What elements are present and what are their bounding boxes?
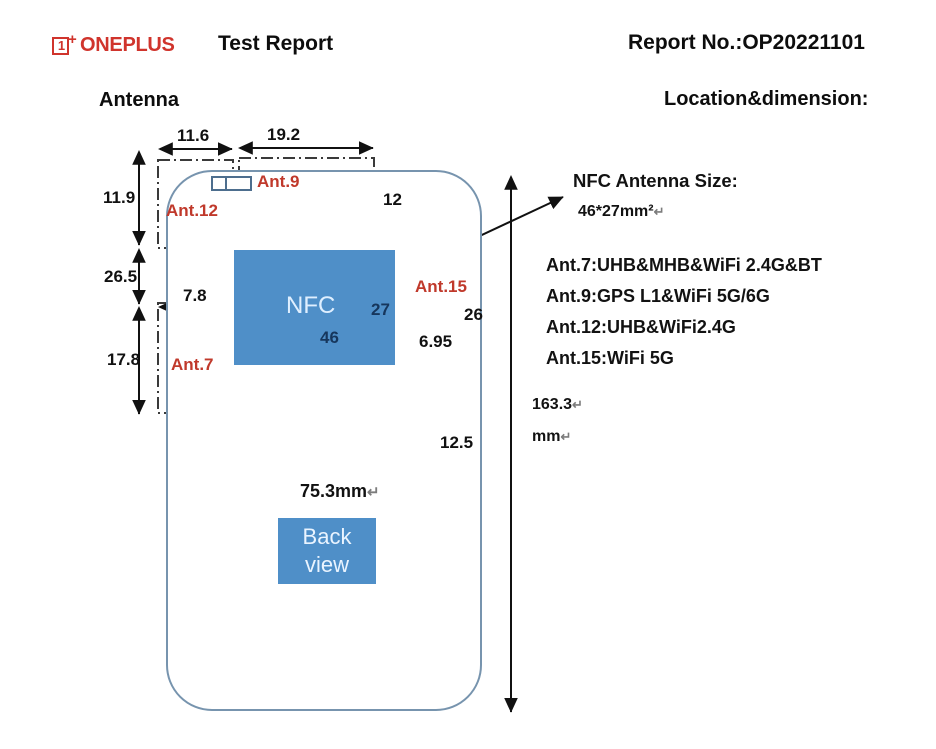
back-view-block: Back view — [278, 518, 376, 584]
antenna-label-ant12: Ant.12 — [166, 201, 218, 221]
back-view-label-line2: view — [278, 552, 376, 578]
dim-label-12-5: 12.5 — [440, 433, 473, 453]
dim-label-nfc-height: 27 — [371, 300, 390, 320]
dim-label-11-6: 11.6 — [177, 126, 209, 146]
top-connector-shape — [211, 176, 252, 191]
dim-label-11-9: 11.9 — [103, 188, 135, 208]
dim-label-26-5: 26.5 — [104, 267, 137, 287]
dim-label-26: 26 — [464, 305, 483, 325]
dim-label-7-8: 7.8 — [183, 286, 207, 306]
back-view-label-line1: Back — [278, 524, 376, 550]
dim-label-17-8: 17.8 — [107, 350, 140, 370]
nfc-block-label: NFC — [286, 292, 335, 320]
dim-label-12: 12 — [383, 190, 402, 210]
dim-label-75-3mm: 75.3mm↵ — [300, 481, 379, 502]
antenna-label-ant7: Ant.7 — [171, 355, 214, 375]
dim-label-nfc-width: 46 — [320, 328, 339, 348]
antenna-label-ant9: Ant.9 — [257, 172, 300, 192]
test-report-page: 1 + ONEPLUS Test Report Report No.:OP202… — [0, 0, 936, 749]
top-connector-divider — [225, 178, 227, 189]
pilcrow-icon: ↵ — [367, 485, 379, 501]
dim-label-19-2: 19.2 — [267, 125, 300, 145]
dim-label-6-95: 6.95 — [419, 332, 452, 352]
antenna-label-ant15: Ant.15 — [415, 277, 467, 297]
